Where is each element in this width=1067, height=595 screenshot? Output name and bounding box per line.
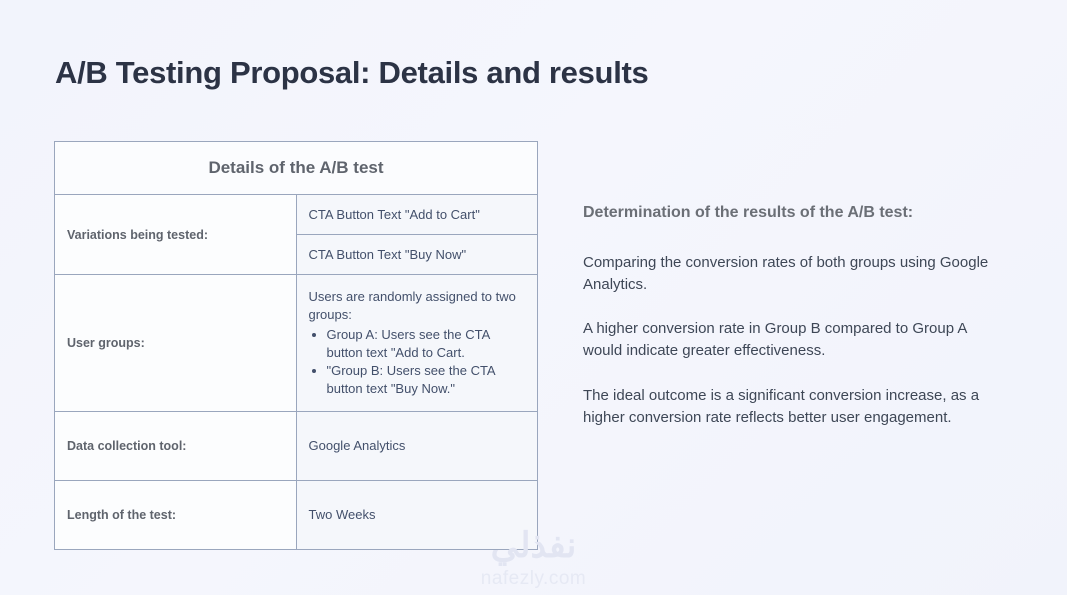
results-determination-panel: Determination of the results of the A/B …: [583, 203, 1003, 428]
table-row: Variations being tested: CTA Button Text…: [55, 195, 538, 235]
ab-test-details-table: Details of the A/B test Variations being…: [54, 141, 538, 550]
row-label-test-length: Length of the test:: [55, 480, 297, 549]
table-header-cell: Details of the A/B test: [55, 142, 538, 195]
results-paragraph: Comparing the conversion rates of both g…: [583, 252, 1003, 296]
results-paragraph: The ideal outcome is a significant conve…: [583, 385, 1003, 429]
data-collection-tool-value: Google Analytics: [296, 411, 538, 480]
user-groups-lead: Users are randomly assigned to two group…: [309, 288, 528, 324]
table-row: User groups: Users are randomly assigned…: [55, 275, 538, 412]
page-title: A/B Testing Proposal: Details and result…: [55, 55, 648, 91]
results-heading: Determination of the results of the A/B …: [583, 203, 1003, 224]
variation-b-value: CTA Button Text "Buy Now": [296, 235, 538, 275]
results-paragraph: A higher conversion rate in Group B comp…: [583, 318, 1003, 362]
list-item: Group A: Users see the CTA button text "…: [327, 326, 528, 362]
user-groups-list: Group A: Users see the CTA button text "…: [309, 326, 528, 398]
variation-a-value: CTA Button Text "Add to Cart": [296, 195, 538, 235]
table-row: Length of the test: Two Weeks: [55, 480, 538, 549]
list-item: "Group B: Users see the CTA button text …: [327, 362, 528, 398]
watermark-domain-text: nafezly.com: [0, 569, 1067, 588]
row-label-variations: Variations being tested:: [55, 195, 297, 275]
row-label-user-groups: User groups:: [55, 275, 297, 412]
table-header-row: Details of the A/B test: [55, 142, 538, 195]
row-label-data-collection-tool: Data collection tool:: [55, 411, 297, 480]
table-row: Data collection tool: Google Analytics: [55, 411, 538, 480]
test-length-value: Two Weeks: [296, 480, 538, 549]
user-groups-value: Users are randomly assigned to two group…: [296, 275, 538, 412]
